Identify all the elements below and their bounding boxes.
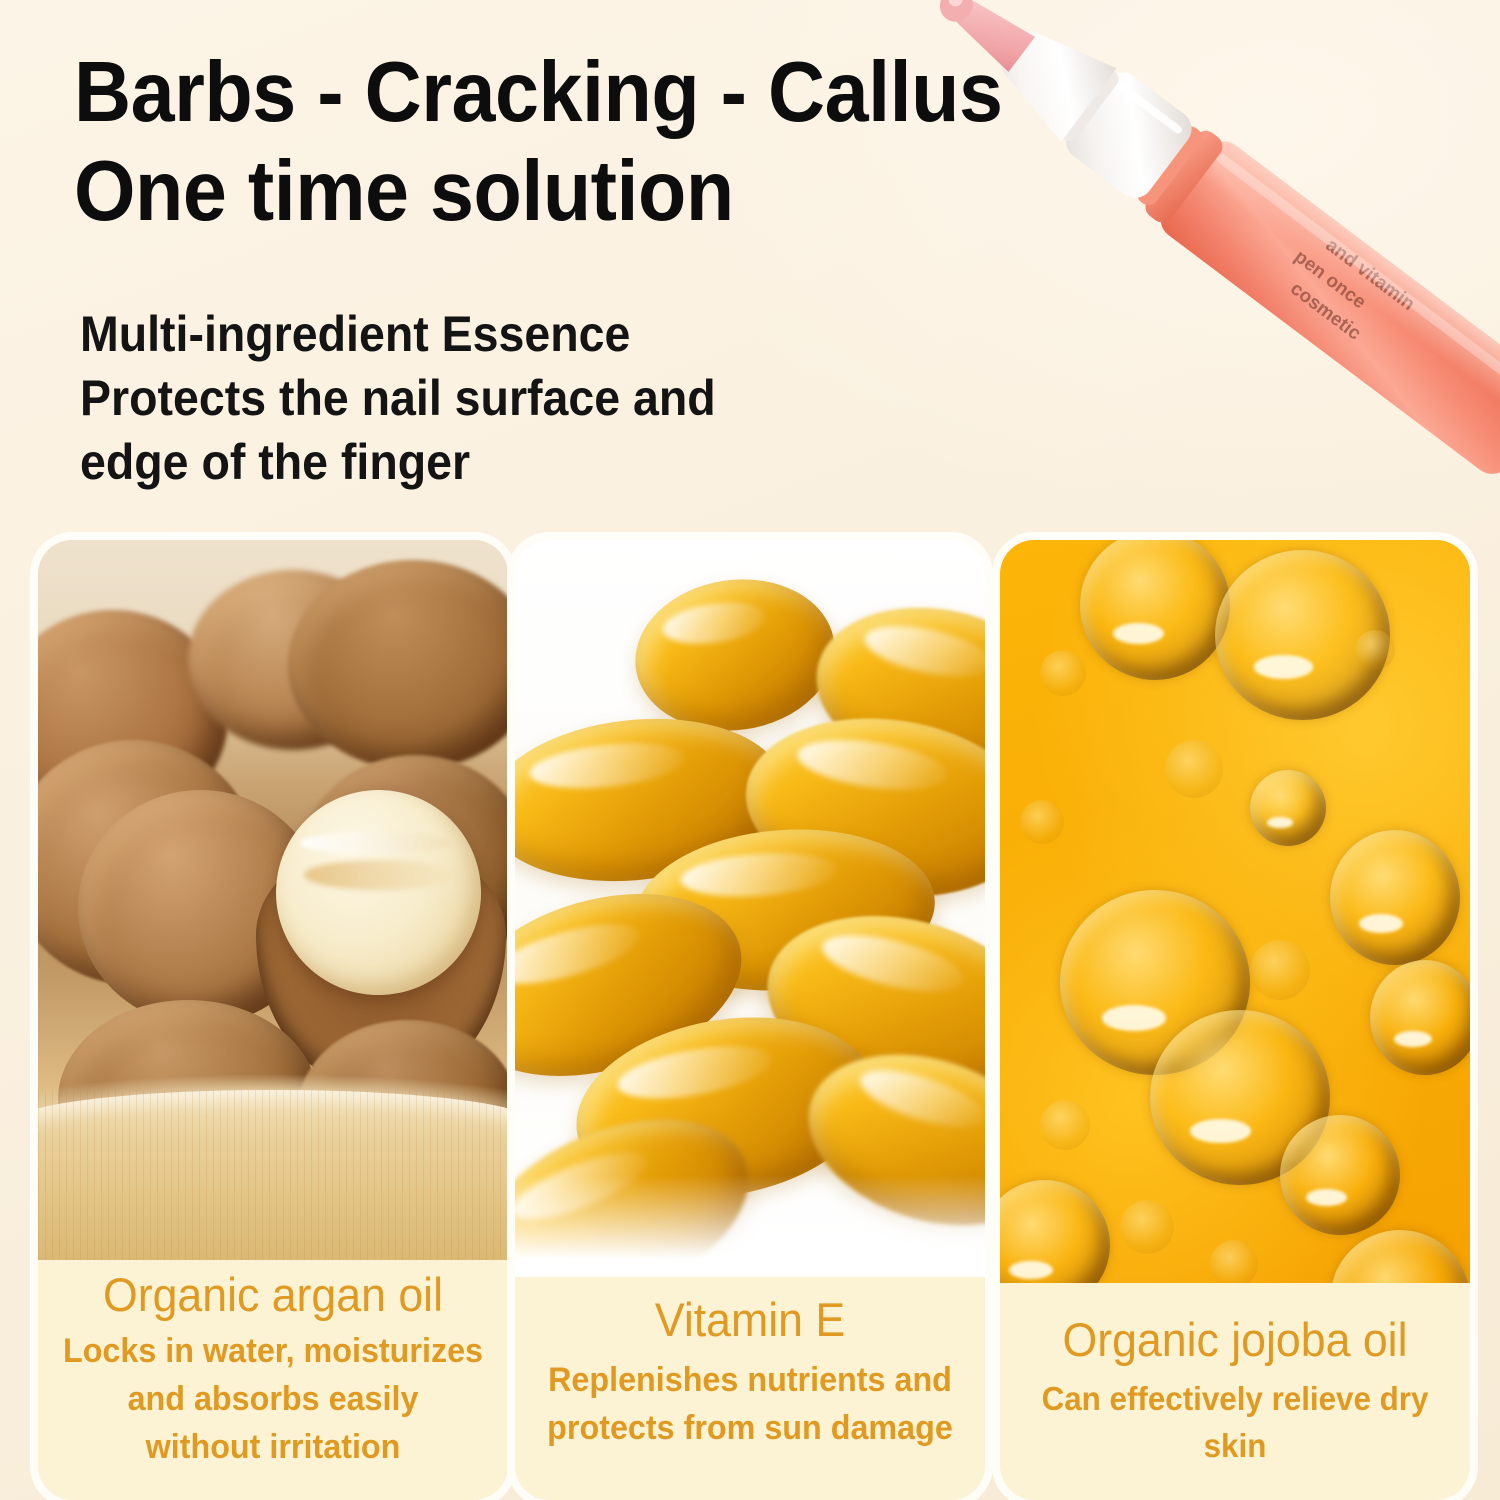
ingredient-description: Locks in water, moisturizes and absorbs … — [50, 1327, 497, 1472]
ingredient-card-vitamin-e[interactable]: Vitamin E Replenishes nutrients and prot… — [515, 540, 985, 1500]
ingredient-title: Vitamin E — [527, 1295, 974, 1346]
svg-text:cosmetic: cosmetic — [1286, 278, 1365, 345]
ingredient-title: Organic jojoba oil — [1012, 1315, 1459, 1366]
page-title: Barbs - Cracking - Callus One time solut… — [74, 44, 1060, 241]
svg-text:and vitamin: and vitamin — [1322, 235, 1419, 315]
vitamin-e-softgels-photo — [515, 540, 985, 1295]
ingredient-card-jojoba-oil[interactable]: Organic jojoba oil Can effectively relie… — [1000, 540, 1470, 1500]
product-marketing-poster: Barbs - Cracking - Callus One time solut… — [0, 0, 1500, 1500]
ingredient-card-argan-oil[interactable]: Organic argan oil Locks in water, moistu… — [38, 540, 508, 1500]
ingredient-title: Organic argan oil — [50, 1270, 497, 1321]
card-caption: Organic jojoba oil Can effectively relie… — [1000, 1283, 1470, 1500]
card-caption: Vitamin E Replenishes nutrients and prot… — [515, 1277, 985, 1500]
card-caption: Organic argan oil Locks in water, moistu… — [38, 1260, 508, 1500]
ingredient-cards: Organic argan oil Locks in water, moistu… — [0, 540, 1500, 1500]
macadamia-nuts-photo — [38, 540, 508, 1270]
jojoba-oil-bubbles-photo — [1000, 540, 1470, 1315]
ingredient-description: Replenishes nutrients and protects from … — [527, 1356, 974, 1453]
page-subtitle: Multi-ingredient Essence Protects the na… — [80, 302, 843, 494]
ingredient-description: Can effectively relieve dry skin — [1012, 1376, 1459, 1470]
svg-text:pen once: pen once — [1290, 246, 1369, 313]
